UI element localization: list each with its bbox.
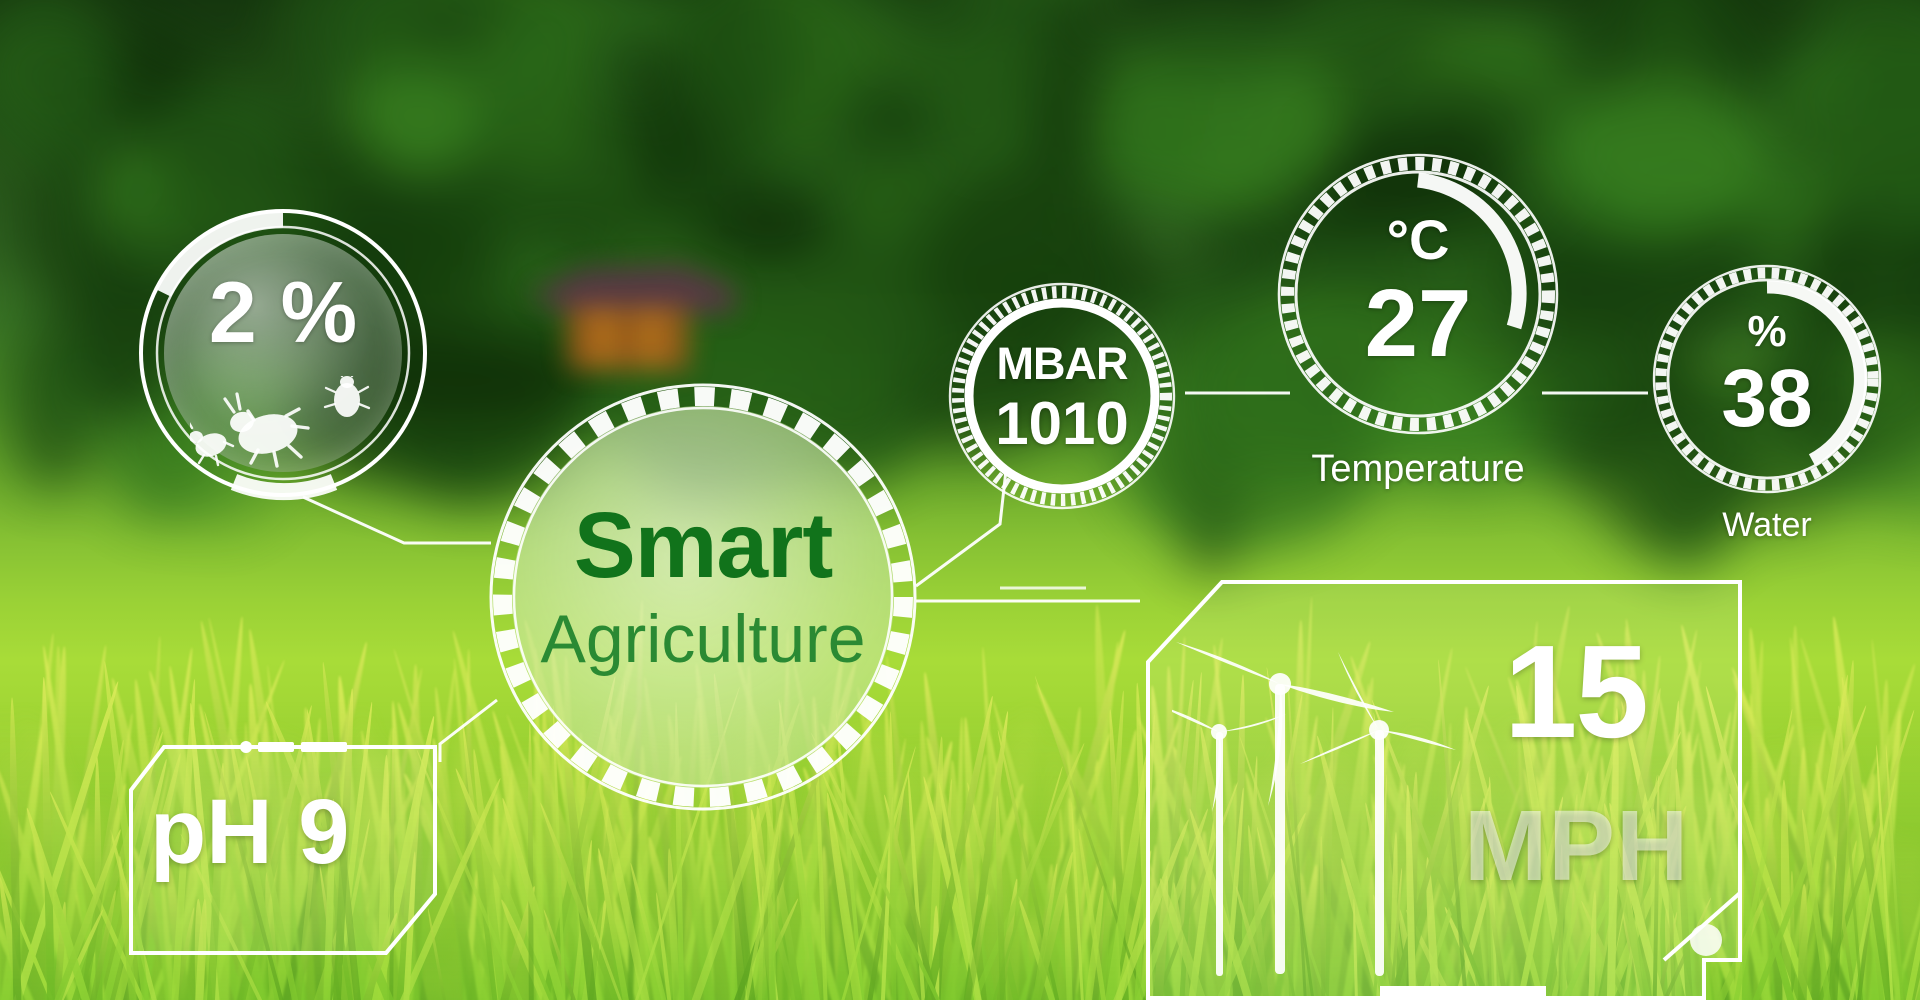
temperature-unit: °C bbox=[1274, 212, 1562, 268]
temperature-value: 27 bbox=[1274, 276, 1562, 372]
pressure-unit: MBAR bbox=[942, 341, 1182, 386]
insect-icon bbox=[190, 376, 380, 472]
pest-value: 2 % bbox=[138, 270, 428, 356]
connector-pest-hub bbox=[303, 497, 491, 543]
temperature-label: Temperature bbox=[1274, 450, 1562, 488]
hud-overlay: 2 % bbox=[0, 0, 1920, 1000]
ph-value-label: pH 9 bbox=[150, 786, 349, 878]
smart-agriculture-hub[interactable]: Smart Agriculture bbox=[478, 372, 928, 822]
water-unit: % bbox=[1650, 310, 1884, 354]
hub-title: Smart bbox=[478, 492, 928, 599]
wind-panel[interactable]: 15 MPH bbox=[1144, 578, 1744, 1000]
wind-turbine-icon bbox=[1172, 626, 1492, 976]
smart-agriculture-scene: 2 % bbox=[0, 0, 1920, 1000]
wind-value: 15 bbox=[1504, 626, 1647, 758]
hub-subtitle: Agriculture bbox=[478, 600, 928, 678]
water-label: Water bbox=[1650, 508, 1884, 542]
ph-panel[interactable]: pH 9 bbox=[128, 744, 438, 956]
pest-gauge[interactable]: 2 % bbox=[138, 208, 428, 498]
pressure-value: 1010 bbox=[942, 394, 1182, 454]
water-value: 38 bbox=[1650, 358, 1884, 440]
water-gauge[interactable]: % 38 Water bbox=[1650, 262, 1884, 496]
wind-unit: MPH bbox=[1464, 796, 1689, 896]
temperature-gauge[interactable]: °C 27 Temperature bbox=[1274, 150, 1562, 438]
pressure-gauge[interactable]: MBAR 1010 bbox=[942, 276, 1182, 516]
